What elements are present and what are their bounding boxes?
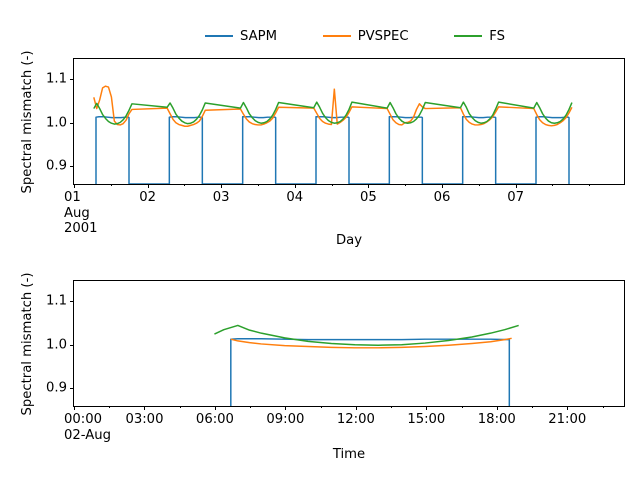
x-tick-mark — [74, 406, 75, 410]
plot-area-day — [74, 59, 624, 184]
legend-swatch-fs — [454, 35, 482, 37]
x-tick-label: 06:00 — [196, 412, 234, 428]
x-tick-label: 03 — [213, 190, 230, 206]
legend-label-fs: FS — [489, 30, 505, 43]
x-tick-mark — [221, 184, 222, 188]
x-tick-label: 12:00 — [337, 412, 375, 428]
legend-entry-fs: FS — [454, 30, 505, 43]
x-tick-label: 09:00 — [266, 412, 304, 428]
y-axis-label-day: Spectral mismatch (-) — [20, 50, 35, 193]
x-tick-mark — [567, 406, 568, 410]
legend-swatch-pvspec — [323, 35, 351, 37]
legend-label-pvspec: PVSPEC — [358, 30, 409, 43]
chart-axes-time: 0.91.01.1 00:0002-Aug03:0006:0009:0012:0… — [73, 280, 625, 407]
x-tick-label: 03:00 — [125, 412, 163, 428]
x-axis-label-day: Day — [336, 233, 362, 248]
x-tick-minor — [111, 184, 112, 186]
y-tick-label: 1.0 — [46, 116, 67, 129]
x-tick-mark — [285, 406, 286, 410]
plot-lines-day — [74, 59, 624, 184]
y-tick-mark — [70, 388, 74, 389]
y-tick-mark — [70, 123, 74, 124]
x-tick-minor — [258, 184, 259, 186]
y-axis-label-time: Spectral mismatch (-) — [20, 272, 35, 415]
x-tick-mark — [368, 184, 369, 188]
y-tick-label: 1.1 — [46, 72, 67, 85]
x-tick-sublabel: 02-Aug — [64, 428, 111, 444]
x-tick-label: 07 — [507, 190, 524, 206]
x-tick-minor — [479, 184, 480, 186]
x-tick-minor — [552, 184, 553, 186]
x-tick-minor — [321, 406, 322, 408]
x-tick-minor — [184, 184, 185, 186]
y-tick-mark — [70, 79, 74, 80]
x-tick-mark — [426, 406, 427, 410]
x-tick-minor — [109, 406, 110, 408]
x-tick-mark — [215, 406, 216, 410]
x-tick-mark — [295, 184, 296, 188]
x-tick-minor — [180, 406, 181, 408]
x-tick-label: 15:00 — [407, 412, 445, 428]
x-tick-label: 02 — [139, 190, 156, 206]
legend-swatch-sapm — [205, 35, 233, 37]
plot-lines-time — [74, 281, 624, 406]
x-tick-mark — [442, 184, 443, 188]
x-tick-minor — [391, 406, 392, 408]
x-tick-minor — [589, 184, 590, 186]
y-tick-label: 0.9 — [46, 382, 67, 395]
x-tick-mark — [144, 406, 145, 410]
x-tick-minor — [603, 406, 604, 408]
matplotlib-figure: SAPM PVSPEC FS 0.91.01.1 01Aug2001020304… — [0, 0, 640, 480]
chart-legend: SAPM PVSPEC FS — [205, 25, 505, 47]
x-tick-label: 05 — [360, 190, 377, 206]
x-tick-minor — [462, 406, 463, 408]
x-tick-mark — [356, 406, 357, 410]
x-tick-minor — [250, 406, 251, 408]
x-tick-label: 01Aug2001 — [64, 190, 98, 237]
x-tick-label: 06 — [434, 190, 451, 206]
x-tick-label: 00:0002-Aug — [64, 412, 111, 443]
x-tick-minor — [332, 184, 333, 186]
x-tick-label: 04 — [286, 190, 303, 206]
x-tick-mark — [497, 406, 498, 410]
x-tick-sublabel: 2001 — [64, 221, 98, 237]
legend-entry-sapm: SAPM — [205, 30, 277, 43]
x-tick-sublabel: Aug — [64, 206, 98, 222]
y-tick-mark — [70, 166, 74, 167]
x-tick-label: 18:00 — [478, 412, 516, 428]
legend-label-sapm: SAPM — [240, 30, 277, 43]
x-tick-mark — [516, 184, 517, 188]
y-tick-label: 1.1 — [46, 294, 67, 307]
x-tick-minor — [532, 406, 533, 408]
x-tick-label: 21:00 — [548, 412, 586, 428]
x-tick-mark — [148, 184, 149, 188]
y-tick-label: 0.9 — [46, 160, 67, 173]
x-axis-label-time: Time — [333, 447, 365, 462]
legend-entry-pvspec: PVSPEC — [323, 30, 409, 43]
x-tick-mark — [74, 184, 75, 188]
y-tick-label: 1.0 — [46, 338, 67, 351]
chart-axes-day: 0.91.01.1 01Aug2001020304050607 — [73, 58, 625, 185]
y-tick-mark — [70, 301, 74, 302]
x-tick-minor — [405, 184, 406, 186]
plot-area-time — [74, 281, 624, 406]
y-tick-mark — [70, 345, 74, 346]
